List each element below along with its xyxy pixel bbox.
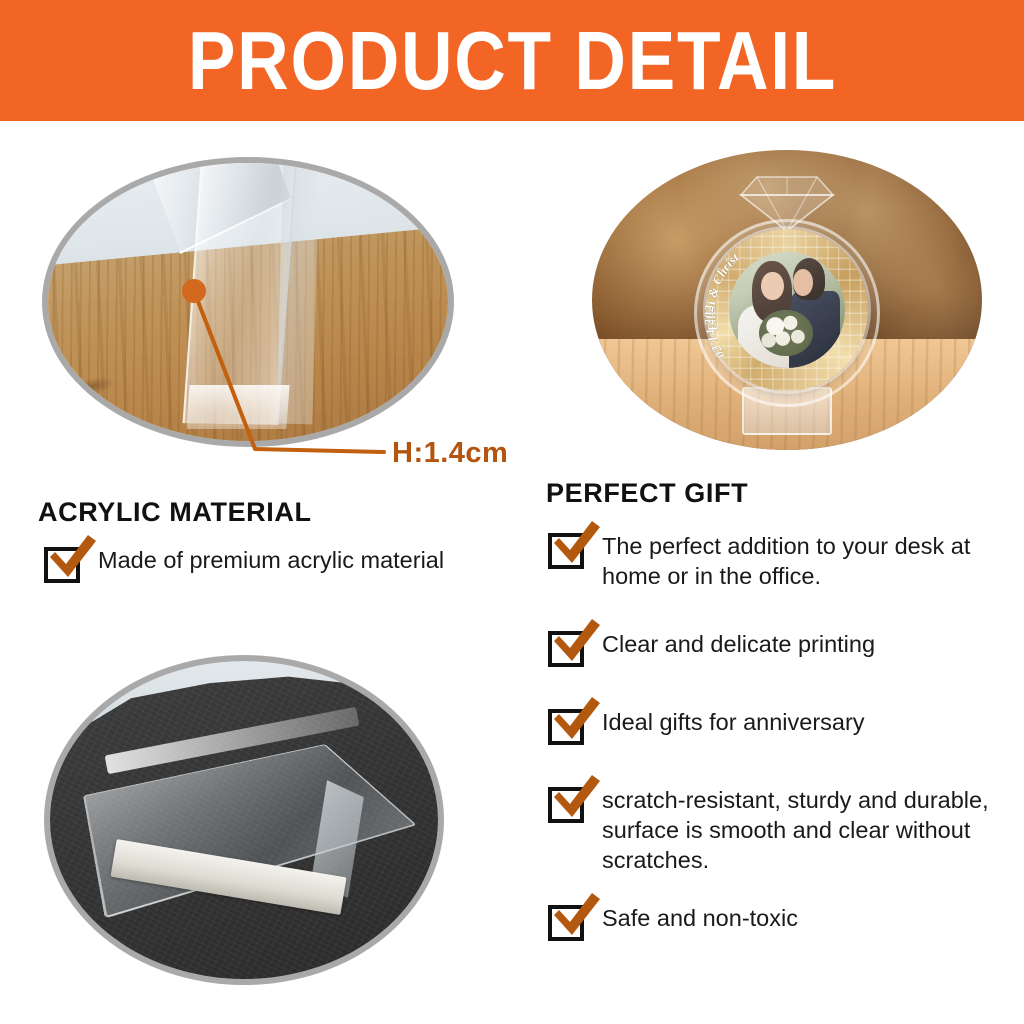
acrylic-ring-plaque: Ellen & Christ 02 14 2022 [698, 165, 876, 435]
checkmark-icon [548, 695, 604, 747]
acrylic-block-on-slate-photo [44, 655, 444, 985]
page-title: PRODUCT DETAIL [187, 19, 836, 102]
feature-text: Safe and non-toxic [602, 903, 798, 933]
feature-item: Safe and non-toxic [548, 903, 798, 941]
feature-text: Ideal gifts for anniversary [602, 707, 865, 737]
acrylic-glass-overlay [694, 219, 880, 407]
checkmark-icon [548, 519, 604, 571]
feature-text: Clear and delicate printing [602, 629, 875, 659]
feature-item: Made of premium acrylic material [44, 545, 444, 583]
wood-knot [68, 373, 116, 398]
acrylic-base-highlight [186, 385, 289, 429]
acrylic-edge-on-wood-photo [42, 157, 454, 447]
header-banner: PRODUCT DETAIL [0, 0, 1024, 121]
section-heading-acrylic-material: ACRYLIC MATERIAL [38, 497, 312, 528]
feature-text: scratch-resistant, sturdy and durable, s… [602, 785, 1002, 875]
checkbox-checked-icon [548, 533, 584, 569]
feature-item: Clear and delicate printing [548, 629, 875, 667]
checkbox-checked-icon [548, 709, 584, 745]
checkmark-icon [548, 617, 604, 669]
ring-plaque-photo: Ellen & Christ 02 14 2022 [592, 150, 982, 450]
feature-item: The perfect addition to your desk at hom… [548, 531, 1002, 591]
checkbox-checked-icon [548, 905, 584, 941]
section-heading-perfect-gift: PERFECT GIFT [546, 478, 748, 509]
feature-text: Made of premium acrylic material [98, 545, 444, 575]
checkbox-checked-icon [548, 787, 584, 823]
feature-item: Ideal gifts for anniversary [548, 707, 865, 745]
feature-item: scratch-resistant, sturdy and durable, s… [548, 785, 1002, 875]
callout-anchor-dot [182, 279, 206, 303]
photo-scene [48, 163, 448, 441]
feature-text: The perfect addition to your desk at hom… [602, 531, 1002, 591]
checkbox-checked-icon [44, 547, 80, 583]
checkmark-icon [548, 891, 604, 943]
thickness-callout-label: H:1.4cm [392, 437, 508, 470]
checkbox-checked-icon [548, 631, 584, 667]
checkmark-icon [548, 773, 604, 825]
checkmark-icon [44, 533, 100, 585]
